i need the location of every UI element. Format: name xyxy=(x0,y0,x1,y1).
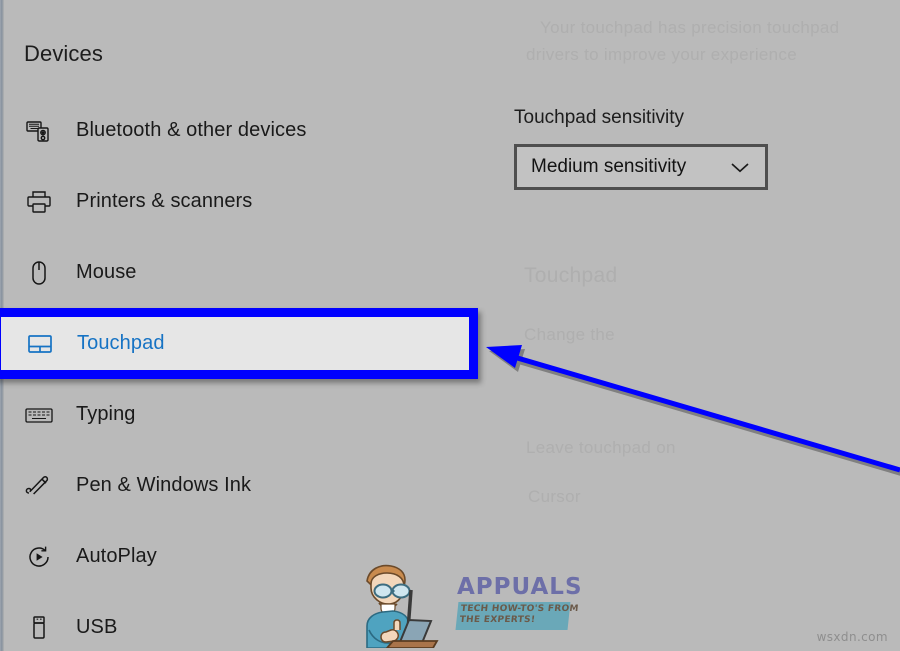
sidebar-item-label: Touchpad xyxy=(77,332,165,355)
ghost-text: Change the xyxy=(524,325,615,345)
touchpad-sensitivity-value: Medium sensitivity xyxy=(531,156,729,178)
sidebar-item-bluetooth[interactable]: Bluetooth & other devices xyxy=(0,95,478,166)
sidebar-item-typing[interactable]: Typing xyxy=(0,379,478,450)
sidebar-item-printers[interactable]: Printers & scanners xyxy=(0,166,478,237)
sidebar-item-label: AutoPlay xyxy=(76,545,157,568)
ghost-text: drivers to improve your experience xyxy=(526,45,797,65)
watermark-mascot-icon xyxy=(345,560,463,648)
sidebar-item-touchpad[interactable]: Touchpad xyxy=(0,308,478,379)
touchpad-icon xyxy=(25,329,55,359)
pen-icon xyxy=(24,471,54,501)
usb-icon xyxy=(24,613,54,643)
watermark-tagline-line-2: THE EXPERTS! xyxy=(459,615,566,626)
ghost-text: Your touchpad has precision touchpad xyxy=(540,18,839,38)
page-title: Devices xyxy=(24,41,103,67)
keyboard-icon xyxy=(24,400,54,430)
settings-detail-pane: Your touchpad has precision touchpad dri… xyxy=(512,0,900,651)
chevron-down-icon xyxy=(729,161,751,174)
sidebar-item-touchpad-slot: Touchpad xyxy=(0,308,478,379)
autoplay-icon xyxy=(24,542,54,572)
ghost-text: Cursor xyxy=(528,487,581,507)
ghost-text: Leave touchpad on xyxy=(526,438,676,458)
appuals-watermark: APPUALS TECH HOW-TO'S FROM THE EXPERTS! xyxy=(345,560,570,648)
printer-icon xyxy=(24,187,54,217)
sidebar-item-label: Pen & Windows Ink xyxy=(76,474,251,497)
watermark-text-block: APPUALS TECH HOW-TO'S FROM THE EXPERTS! xyxy=(457,576,569,630)
site-credit: wsxdn.com xyxy=(817,630,888,644)
bluetooth-devices-icon xyxy=(24,116,54,146)
watermark-tagline: TECH HOW-TO'S FROM THE EXPERTS! xyxy=(456,602,571,630)
mouse-icon xyxy=(24,258,54,288)
sidebar-item-pen[interactable]: Pen & Windows Ink xyxy=(0,450,478,521)
ghost-text: Touchpad xyxy=(524,264,617,288)
watermark-tagline-line-1: TECH HOW-TO'S FROM xyxy=(460,604,567,615)
sidebar-item-label: Bluetooth & other devices xyxy=(76,119,306,142)
sidebar-item-label: Typing xyxy=(76,403,136,426)
touchpad-sensitivity-heading: Touchpad sensitivity xyxy=(514,107,684,129)
sidebar-item-label: Printers & scanners xyxy=(76,190,252,213)
sidebar-item-mouse[interactable]: Mouse xyxy=(0,237,478,308)
settings-window: Devices Bluetooth & other devices xyxy=(0,0,900,651)
touchpad-sensitivity-select[interactable]: Medium sensitivity xyxy=(514,144,768,190)
watermark-brand: APPUALS xyxy=(457,576,569,599)
sidebar-item-label: USB xyxy=(76,616,117,639)
sidebar-item-label: Mouse xyxy=(76,261,137,284)
